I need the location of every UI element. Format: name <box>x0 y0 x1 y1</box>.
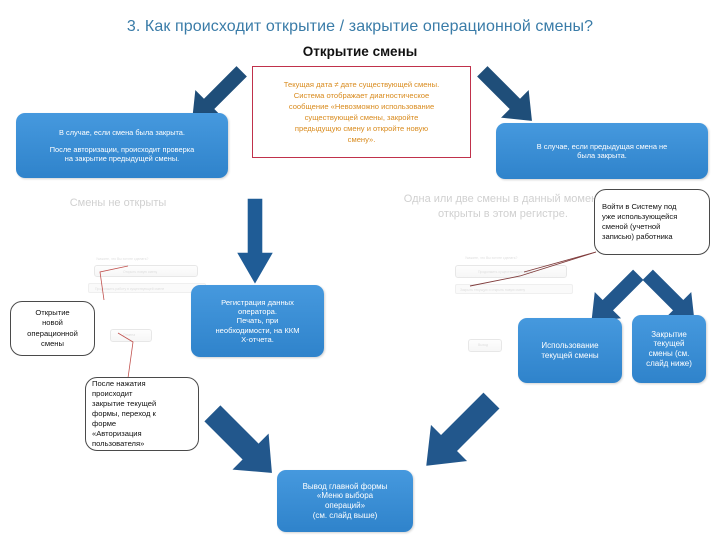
diagnostic-message-line-4: существующей смены, закройте <box>259 112 464 123</box>
box-shift-was-closed-line-1: В случае, если смена была закрыта. <box>59 128 185 137</box>
box-main-form-output-line-1: Вывод главной формы <box>303 482 388 492</box>
callout-after-click-line-6: «Авторизация <box>92 429 192 439</box>
box-close-current-shift-line-1: Закрытие <box>651 330 687 340</box>
diagnostic-message-line-2: Система отображает диагностическое <box>259 90 464 101</box>
callout-open-new-shift-line-1: Открытие <box>16 308 89 318</box>
box-main-form-output-line-3: операций» <box>325 501 365 511</box>
box-main-form-output[interactable]: Вывод главной формы «Меню выбора операци… <box>277 470 413 532</box>
box-operator-registration-line-1: Регистрация данных <box>221 298 294 307</box>
arrow-bottom-left-downright <box>198 398 288 490</box>
arrow-center-down <box>233 196 277 288</box>
callout-login-existing-shift-line-3: сменой (учетной <box>602 222 702 232</box>
diagnostic-message-line-1: Текущая дата ≠ дате существующей смены. <box>259 79 464 90</box>
box-previous-shift-not-closed-line-1: В случае, если предыдущая смена не <box>537 142 667 151</box>
callout-after-click-line-3: закрытие текущей <box>92 399 192 409</box>
box-shift-was-closed[interactable]: В случае, если смена была закрыта. После… <box>16 113 228 178</box>
slide-canvas: Смены не открыты Одна или две смены в да… <box>0 0 720 540</box>
arrow-bottom-right-downleft <box>410 384 506 484</box>
box-operator-registration-line-4: необходимости, на ККМ <box>215 326 299 335</box>
box-close-current-shift-line-2: текущей <box>653 339 684 349</box>
box-shift-was-closed-line-2: После авторизации, происходит проверка <box>50 145 195 154</box>
box-close-current-shift[interactable]: Закрытие текущей смены (см. слайд ниже) <box>632 315 706 383</box>
callout-after-click-line-5: форме <box>92 419 192 429</box>
callout-login-existing-shift-line-1: Войти в Систему под <box>602 202 702 212</box>
box-close-current-shift-line-3: смены (см. <box>649 349 690 359</box>
box-previous-shift-not-closed[interactable]: В случае, если предыдущая смена не была … <box>496 123 708 179</box>
box-operator-registration-line-5: Х-отчета. <box>241 335 274 344</box>
callout-after-click-line-7: пользователя» <box>92 439 192 449</box>
section-title: Открытие смены <box>0 44 720 59</box>
callout-open-new-shift-line-2: новой <box>16 318 89 328</box>
diagnostic-message-line-3: сообщение «Невозможно использование <box>259 101 464 112</box>
callout-login-existing-shift-line-2: уже использующейся <box>602 212 702 222</box>
box-operator-registration-line-2: оператора. <box>238 307 277 316</box>
callout-open-new-shift-line-3: операционной <box>16 329 89 339</box>
page-title: 3. Как происходит открытие / закрытие оп… <box>0 18 720 36</box>
box-main-form-output-line-2: «Меню выбора <box>317 491 373 501</box>
callout-after-click-line-1: После нажатия <box>92 379 192 389</box>
callout-login-existing-shift-line-4: записью) работника <box>602 232 702 242</box>
box-close-current-shift-line-4: слайд ниже) <box>646 359 692 369</box>
box-operator-registration-line-3: Печать, при <box>237 316 279 325</box>
box-operator-registration[interactable]: Регистрация данных оператора. Печать, пр… <box>191 285 324 357</box>
callout-login-existing-shift[interactable]: Войти в Систему под уже использующейся с… <box>594 189 710 255</box>
callout-after-click[interactable]: После нажатия происходит закрытие текуще… <box>85 377 199 451</box>
box-shift-was-closed-line-3: на закрытие предыдущей смены. <box>65 154 179 163</box>
box-use-current-shift[interactable]: Использование текущей смены <box>518 318 622 383</box>
box-main-form-output-line-4: (см. слайд выше) <box>313 511 378 521</box>
diagnostic-message-note: Текущая дата ≠ дате существующей смены. … <box>252 66 471 158</box>
diagnostic-message-line-5: предыдущую смену и откройте новую <box>259 123 464 134</box>
callout-after-click-line-4: формы, переход к <box>92 409 192 419</box>
callout-after-click-line-2: происходит <box>92 389 192 399</box>
box-previous-shift-not-closed-line-2: была закрыта. <box>577 151 627 160</box>
box-use-current-shift-line-1: Использование <box>541 341 598 351</box>
callout-open-new-shift[interactable]: Открытие новой операционной смены <box>10 301 95 356</box>
box-use-current-shift-line-2: текущей смены <box>541 351 598 361</box>
callout-open-new-shift-line-4: смены <box>16 339 89 349</box>
diagnostic-message-line-6: смену». <box>259 134 464 145</box>
